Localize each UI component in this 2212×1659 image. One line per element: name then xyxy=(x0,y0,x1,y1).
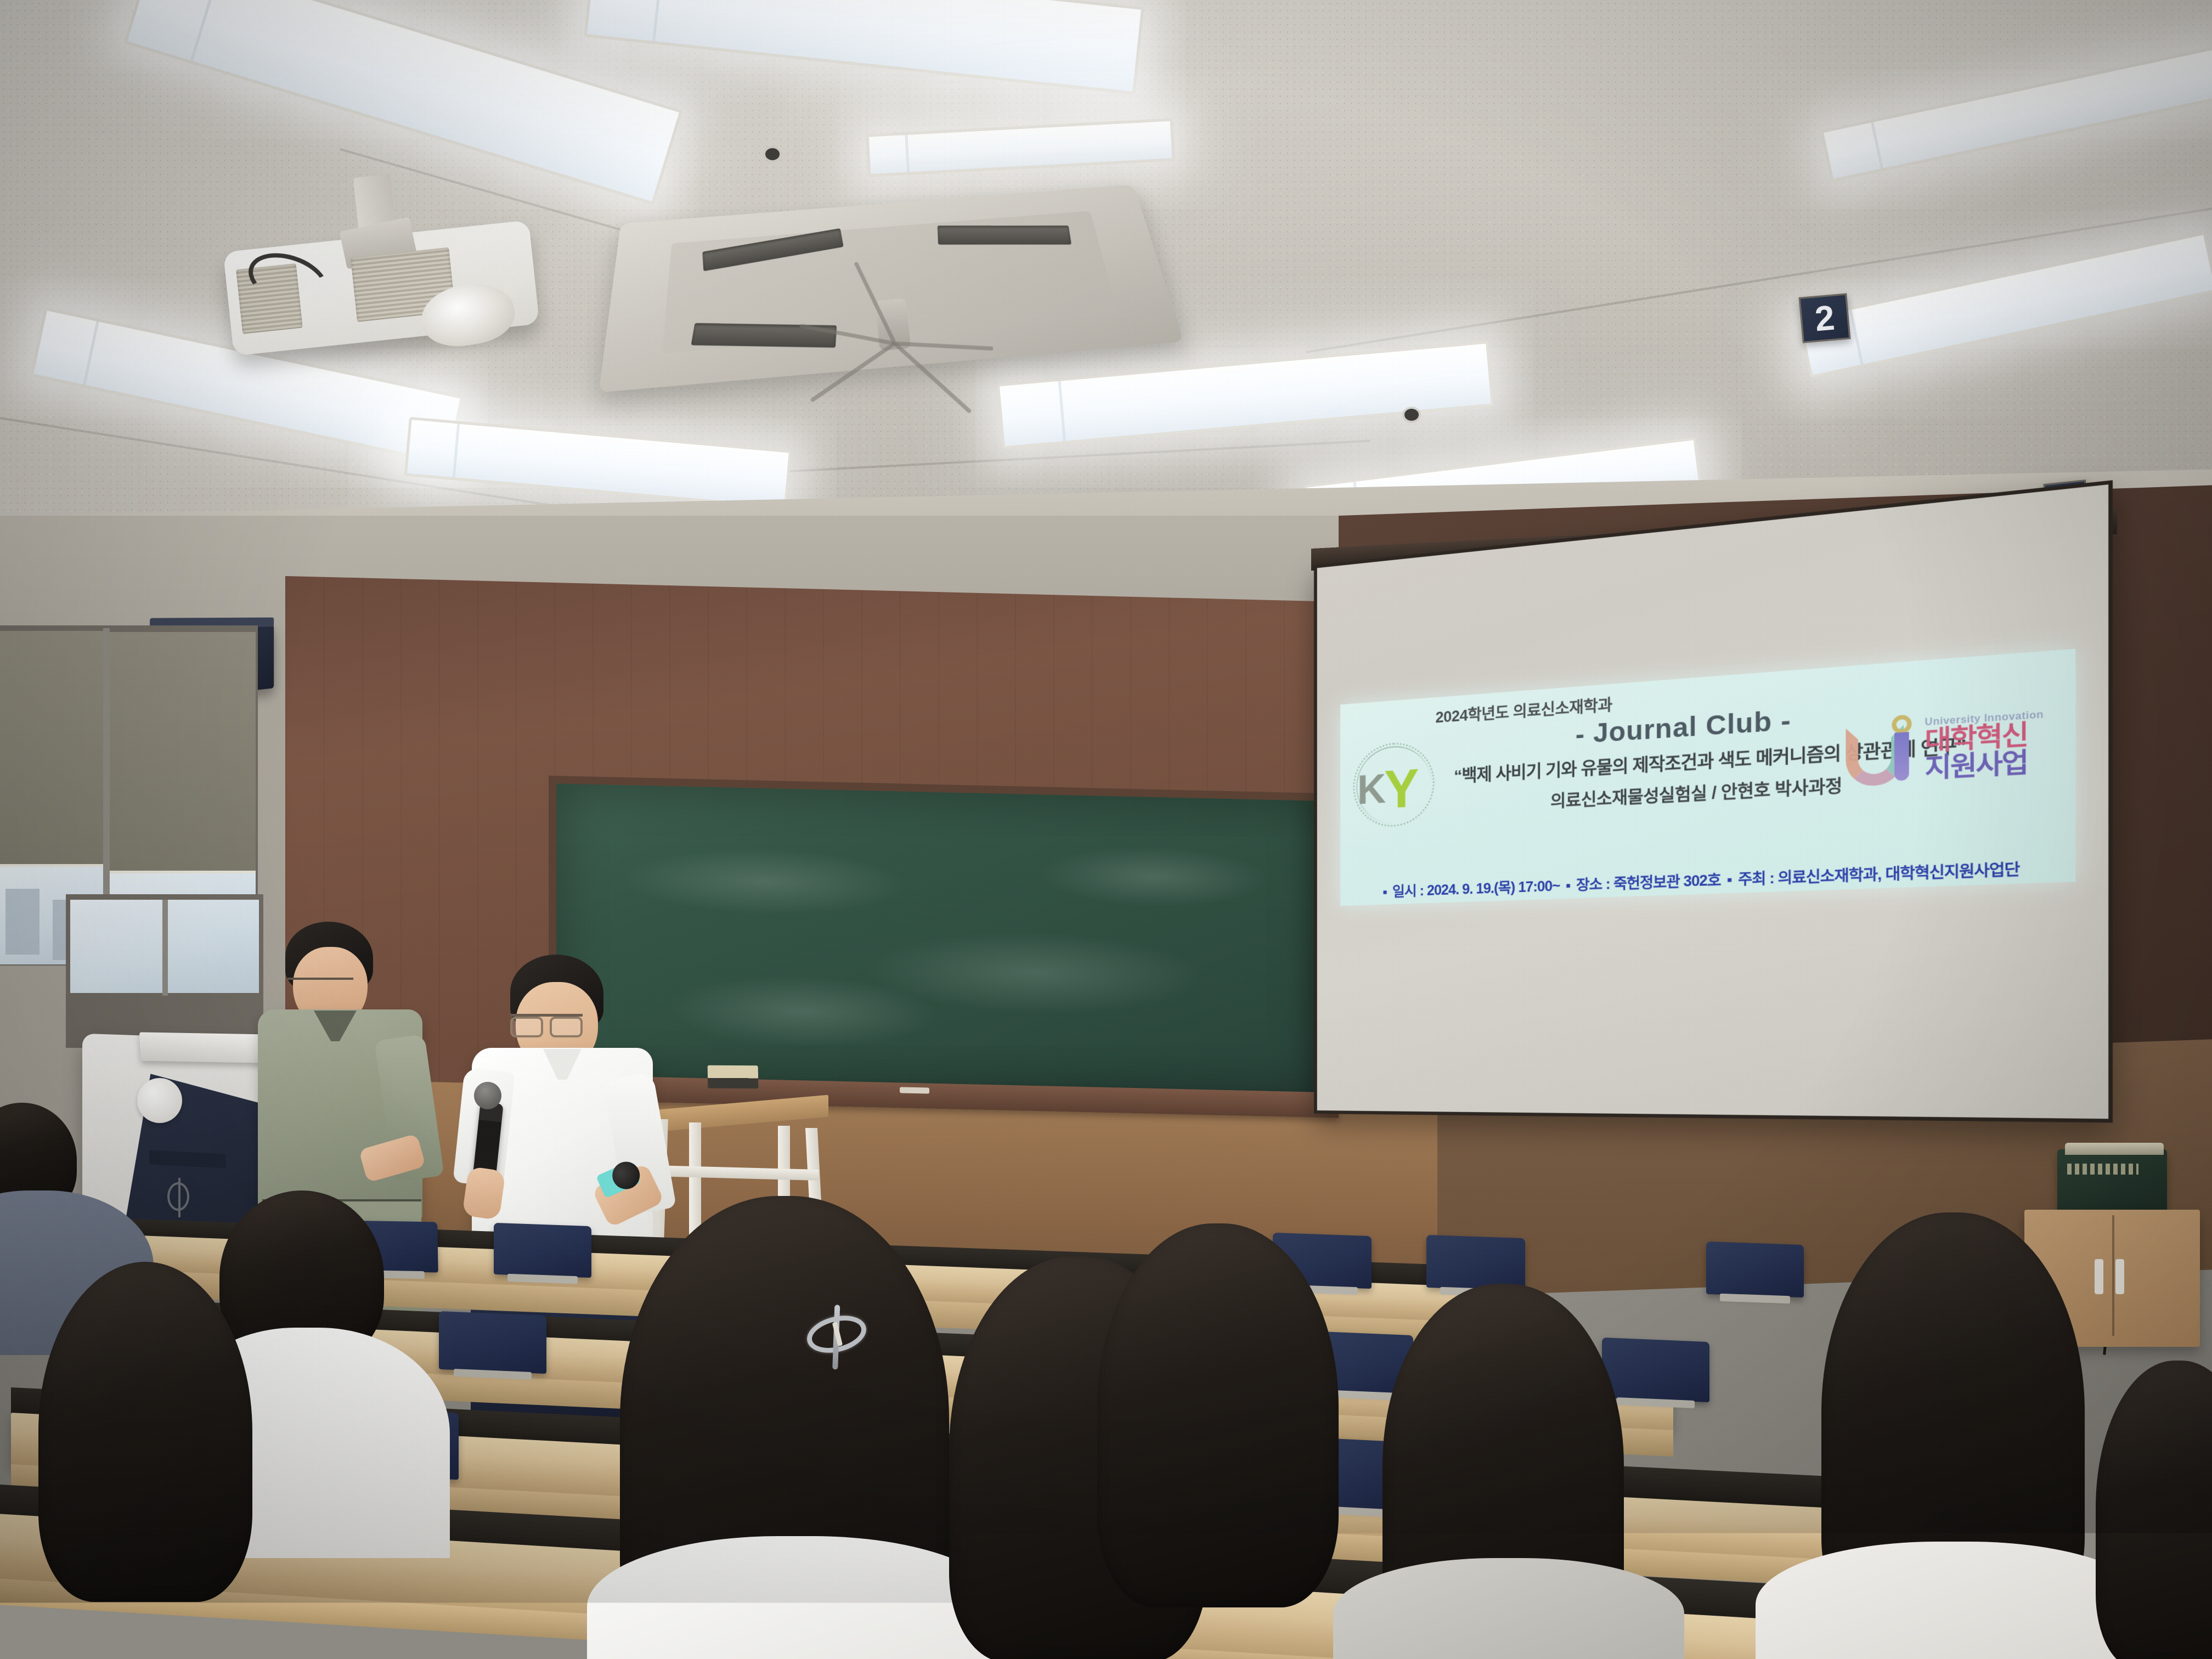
ui-logo-korean-line2: 지원사업 xyxy=(1925,749,2044,783)
lectern-control-knob[interactable] xyxy=(137,1078,182,1123)
chalk-smudge xyxy=(1039,844,1269,910)
audience-head xyxy=(38,1262,252,1602)
blackboard xyxy=(549,776,1328,1101)
ui-logo-text: University Innovation 대학혁신 지원사업 xyxy=(1925,710,2044,783)
ky-logo: K Y xyxy=(1353,740,1434,828)
presentation-slide: K Y University Innovation 대학혁신 지원사업 xyxy=(1340,649,2075,906)
slide-footer-place: 장소 : 죽헌정보관 302호 xyxy=(1576,872,1720,894)
window-blind xyxy=(0,631,104,867)
ui-logo-mark xyxy=(1843,710,1921,795)
room-sign-2: 2 xyxy=(1799,293,1851,343)
audience-shoulders xyxy=(1333,1558,1684,1659)
chair-base xyxy=(1720,1294,1790,1304)
slide-footer-bullet-2: ▪ xyxy=(1566,878,1570,894)
fan-blade xyxy=(895,342,994,351)
ui-logo-j-dot xyxy=(1892,715,1911,735)
assistant-glasses-icon xyxy=(287,978,353,993)
window-blind xyxy=(108,632,256,873)
ui-logo-j-stem xyxy=(1894,732,1909,781)
slide-footer-host: 주최 : 의료신소재학과, 대학혁신지원사업단 xyxy=(1738,861,2019,889)
ky-logo-letter-k: K xyxy=(1357,768,1382,810)
slide-footer-bullet-3: ▪ xyxy=(1727,872,1732,889)
slide-footer: ▪일시 : 2024. 9. 19.(목) 17:00~▪장소 : 죽헌정보관 … xyxy=(1340,855,2075,903)
slide-footer-bullet-1: ▪ xyxy=(1383,885,1387,901)
chalk-piece xyxy=(900,1087,929,1093)
room-sign-2-label: 2 xyxy=(1813,297,1836,340)
exterior-building xyxy=(5,889,39,955)
window-mullion xyxy=(162,900,168,996)
projection-screen[interactable]: K Y University Innovation 대학혁신 지원사업 xyxy=(1314,480,2113,1122)
lecture-hall-photo: 2 1 K Y xyxy=(0,0,2212,1659)
chair[interactable] xyxy=(494,1223,591,1278)
audience-shoulders xyxy=(587,1536,1004,1659)
equipment-case-label xyxy=(2067,1164,2138,1175)
audience-shoulders xyxy=(1756,1542,2151,1659)
audience-head xyxy=(1097,1223,1339,1607)
presenter-glasses-icon xyxy=(510,1014,583,1031)
ui-logo-j-shape xyxy=(1888,714,1914,789)
equipment-case-lid xyxy=(2065,1143,2164,1155)
chalk-smudge xyxy=(622,845,907,918)
chair[interactable] xyxy=(1706,1242,1804,1297)
smoke-detector-icon xyxy=(765,148,780,160)
slide-footer-datetime: 일시 : 2024. 9. 19.(목) 17:00~ xyxy=(1392,878,1560,900)
chair[interactable] xyxy=(1602,1338,1709,1402)
chair[interactable] xyxy=(1426,1235,1525,1291)
university-innovation-logo: University Innovation 대학혁신 지원사업 xyxy=(1843,694,2067,801)
ky-logo-letter-y: Y xyxy=(1384,761,1419,817)
chair[interactable] xyxy=(439,1311,546,1374)
blackboard-eraser xyxy=(708,1065,759,1088)
smoke-detector-icon xyxy=(1404,409,1419,421)
ac-vent xyxy=(938,225,1071,244)
